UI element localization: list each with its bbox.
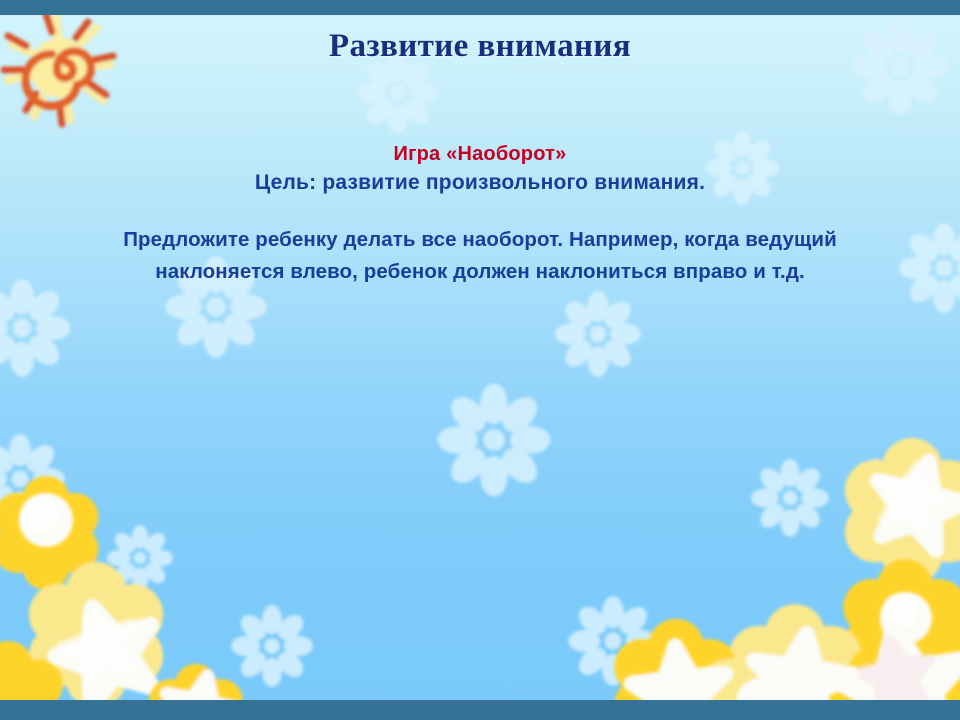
bottom-accent-bar (0, 700, 960, 720)
page-title: Развитие внимания (0, 28, 960, 65)
background-decoration-layer (0, 0, 960, 720)
body-text-line-1: Предложите ребенку делать все наоборот. … (40, 224, 920, 256)
top-accent-bar (0, 0, 960, 15)
game-title-label: Игра «Наоборот» (0, 140, 960, 168)
spacer (0, 198, 960, 224)
blob-cluster-left (0, 476, 169, 720)
snowflake-group (0, 17, 960, 687)
sun-doodle-icon (0, 0, 960, 720)
slide-body: Игра «Наоборот» Цель: развитие произволь… (0, 140, 960, 288)
goal-label: Цель: развитие произвольного внимания. (0, 168, 960, 198)
blob-cluster-right (614, 438, 960, 720)
presentation-slide: Развитие внимания Игра «Наоборот» Цель: … (0, 0, 960, 720)
body-text-line-2: наклоняется влево, ребенок должен наклон… (40, 256, 920, 288)
